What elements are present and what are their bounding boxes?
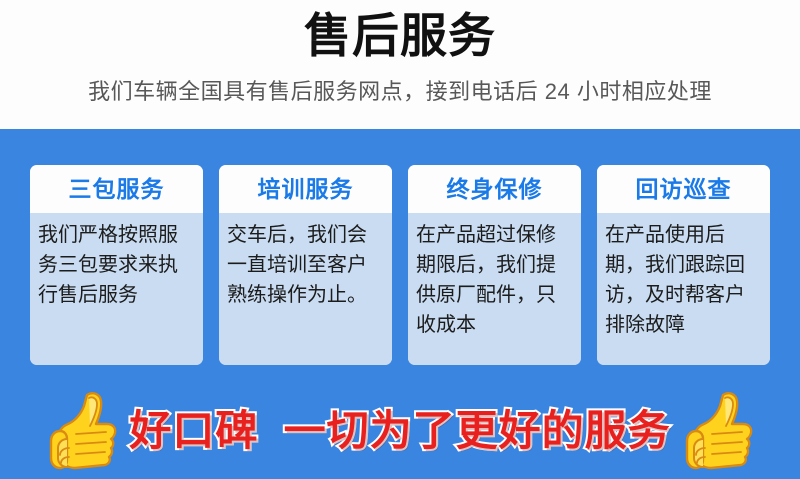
service-card-text: 交车后，我们会一直培训至客户熟练操作为止。 bbox=[227, 220, 384, 310]
service-card-sanbao[interactable]: 三包服务 我们严格按照服务三包要求来执行售后服务 bbox=[30, 165, 203, 365]
service-card-title: 三包服务 bbox=[69, 175, 165, 203]
service-cards-row: 三包服务 我们严格按照服务三包要求来执行售后服务 培训服务 交车后，我们会一直培… bbox=[30, 165, 770, 365]
page-title: 售后服务 bbox=[0, 0, 800, 67]
page-subtitle: 我们车辆全国具有售后服务网点，接到电话后 24 小时相应处理 bbox=[0, 67, 800, 107]
service-cards-section: 三包服务 我们严格按照服务三包要求来执行售后服务 培训服务 交车后，我们会一直培… bbox=[0, 129, 800, 383]
service-card-header: 回访巡查 bbox=[597, 165, 770, 213]
service-card-title: 培训服务 bbox=[258, 175, 354, 203]
service-card-title: 终身保修 bbox=[447, 175, 543, 203]
service-card-lifetime-warranty[interactable]: 终身保修 在产品超过保修期限后，我们提供原厂配件，只收成本 bbox=[408, 165, 581, 365]
service-card-text: 在产品超过保修期限后，我们提供原厂配件，只收成本 bbox=[416, 220, 573, 340]
service-card-body: 在产品超过保修期限后，我们提供原厂配件，只收成本 bbox=[408, 213, 581, 365]
service-card-training[interactable]: 培训服务 交车后，我们会一直培训至客户熟练操作为止。 bbox=[219, 165, 392, 365]
service-card-header: 三包服务 bbox=[30, 165, 203, 213]
thumbs-up-icon bbox=[679, 386, 757, 476]
service-card-text: 我们严格按照服务三包要求来执行售后服务 bbox=[38, 220, 195, 310]
service-card-header: 培训服务 bbox=[219, 165, 392, 213]
thumbs-up-icon bbox=[43, 386, 121, 476]
slogan-text: 好口碑 一切为了更好的服务 bbox=[129, 403, 670, 459]
service-card-text: 在产品使用后期，我们跟踪回访，及时帮客户排除故障 bbox=[605, 220, 762, 340]
service-card-header: 终身保修 bbox=[408, 165, 581, 213]
service-card-title: 回访巡查 bbox=[636, 175, 732, 203]
service-card-followup-inspection[interactable]: 回访巡查 在产品使用后期，我们跟踪回访，及时帮客户排除故障 bbox=[597, 165, 770, 365]
header-section: 售后服务 我们车辆全国具有售后服务网点，接到电话后 24 小时相应处理 bbox=[0, 0, 800, 129]
service-card-body: 我们严格按照服务三包要求来执行售后服务 bbox=[30, 213, 203, 365]
slogan-banner-section: 好口碑 一切为了更好的服务 bbox=[0, 383, 800, 479]
service-card-body: 在产品使用后期，我们跟踪回访，及时帮客户排除故障 bbox=[597, 213, 770, 365]
service-card-body: 交车后，我们会一直培训至客户熟练操作为止。 bbox=[219, 213, 392, 365]
slogan-banner-inner: 好口碑 一切为了更好的服务 bbox=[43, 386, 756, 476]
promo-banner-page: 售后服务 我们车辆全国具有售后服务网点，接到电话后 24 小时相应处理 三包服务… bbox=[0, 0, 800, 479]
